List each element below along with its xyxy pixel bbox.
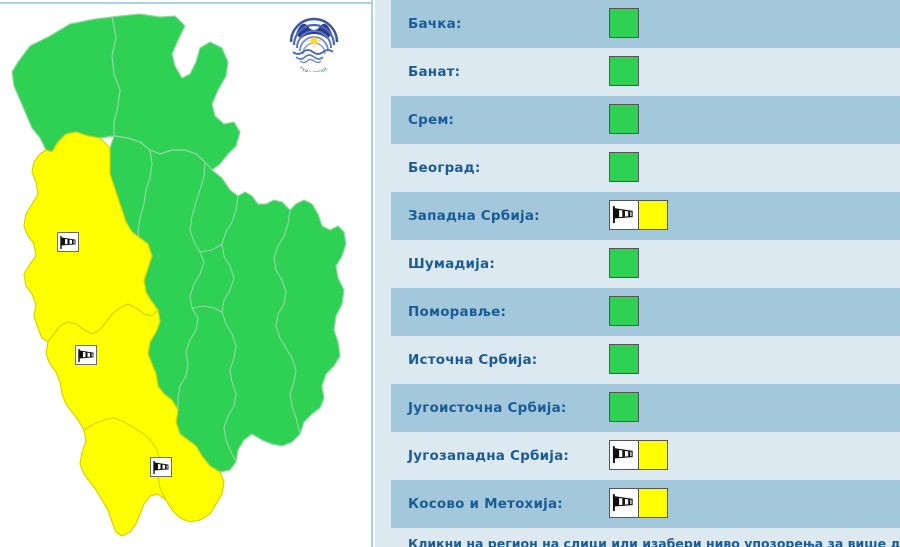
map-panel-inner: РХМЗ СРБИЈЕ [0, 2, 371, 545]
svg-text:РХМЗ СРБИЈЕ: РХМЗ СРБИЈЕ [299, 65, 329, 72]
region-label: Западна Србија: [391, 192, 609, 240]
region-warning-swatch[interactable] [609, 240, 900, 288]
region-warning-swatch[interactable] [609, 144, 900, 192]
region-label: Југозападна Србија: [391, 432, 609, 480]
table-row[interactable]: Бачка: [391, 0, 900, 48]
region-warning-swatch[interactable] [609, 0, 900, 48]
serbia-warning-map[interactable] [0, 4, 371, 547]
warning-swatch-group[interactable] [609, 440, 668, 470]
level-swatch-green[interactable] [610, 297, 638, 325]
region-label: Бачка: [391, 0, 609, 48]
warning-map-page: РХМЗ СРБИЈЕ [0, 0, 900, 547]
warning-swatch-group[interactable] [609, 8, 639, 38]
level-swatch-yellow[interactable] [639, 441, 667, 469]
footer-note: Кликни на регион на слици или изабери ни… [391, 528, 900, 547]
wind-icon[interactable] [610, 489, 638, 517]
table-row[interactable]: Југоисточна Србија: [391, 384, 900, 432]
level-swatch-green[interactable] [610, 345, 638, 373]
wind-icon[interactable] [75, 345, 97, 365]
region-label: Шумадија: [391, 240, 609, 288]
region-label: Косово и Метохија: [391, 480, 609, 528]
warning-swatch-group[interactable] [609, 56, 639, 86]
table-row[interactable]: Банат: [391, 48, 900, 96]
level-swatch-green[interactable] [610, 393, 638, 421]
level-swatch-green[interactable] [610, 57, 638, 85]
warning-swatch-group[interactable] [609, 296, 639, 326]
warning-swatch-group[interactable] [609, 104, 639, 134]
wind-icon[interactable] [150, 457, 172, 477]
region-warning-swatch[interactable] [609, 432, 900, 480]
table-row[interactable]: Источна Србија: [391, 336, 900, 384]
warning-swatch-group[interactable] [609, 488, 668, 518]
region-warning-swatch[interactable] [609, 480, 900, 528]
table-row[interactable]: Западна Србија: [391, 192, 900, 240]
level-swatch-yellow[interactable] [639, 201, 667, 229]
region-warning-swatch[interactable] [609, 384, 900, 432]
table-row[interactable]: Шумадија: [391, 240, 900, 288]
level-swatch-green[interactable] [610, 9, 638, 37]
region-warning-swatch[interactable] [609, 336, 900, 384]
map-panel: РХМЗ СРБИЈЕ [0, 0, 373, 547]
region-warning-swatch[interactable] [609, 48, 900, 96]
region-label: Београд: [391, 144, 609, 192]
table-row[interactable]: Југозападна Србија: [391, 432, 900, 480]
footer-note-text: Кликни на регион на слици или изабери ни… [408, 536, 900, 547]
rhmz-logo: РХМЗ СРБИЈЕ [283, 12, 345, 72]
level-swatch-green[interactable] [610, 153, 638, 181]
warning-swatch-group[interactable] [609, 152, 639, 182]
region-warning-swatch[interactable] [609, 288, 900, 336]
wind-icon[interactable] [610, 201, 638, 229]
table-row[interactable]: Срем: [391, 96, 900, 144]
table-row[interactable]: Поморавље: [391, 288, 900, 336]
region-warning-swatch[interactable] [609, 96, 900, 144]
region-warning-swatch[interactable] [609, 192, 900, 240]
region-label: Срем: [391, 96, 609, 144]
region-label: Источна Србија: [391, 336, 609, 384]
warning-swatch-group[interactable] [609, 248, 639, 278]
region-warning-table: Бачка:Банат:Срем:Београд:Западна Србија:… [391, 0, 900, 528]
region-label: Југоисточна Србија: [391, 384, 609, 432]
level-swatch-green[interactable] [610, 105, 638, 133]
warning-swatch-group[interactable] [609, 200, 668, 230]
warning-swatch-group[interactable] [609, 392, 639, 422]
wind-icon[interactable] [610, 441, 638, 469]
level-swatch-green[interactable] [610, 249, 638, 277]
region-label: Банат: [391, 48, 609, 96]
region-label: Поморавље: [391, 288, 609, 336]
region-warning-table-panel: Бачка:Банат:Срем:Београд:Западна Србија:… [375, 0, 900, 547]
table-row[interactable]: Косово и Метохија: [391, 480, 900, 528]
table-row[interactable]: Београд: [391, 144, 900, 192]
warning-swatch-group[interactable] [609, 344, 639, 374]
wind-icon[interactable] [57, 232, 79, 252]
level-swatch-yellow[interactable] [639, 489, 667, 517]
